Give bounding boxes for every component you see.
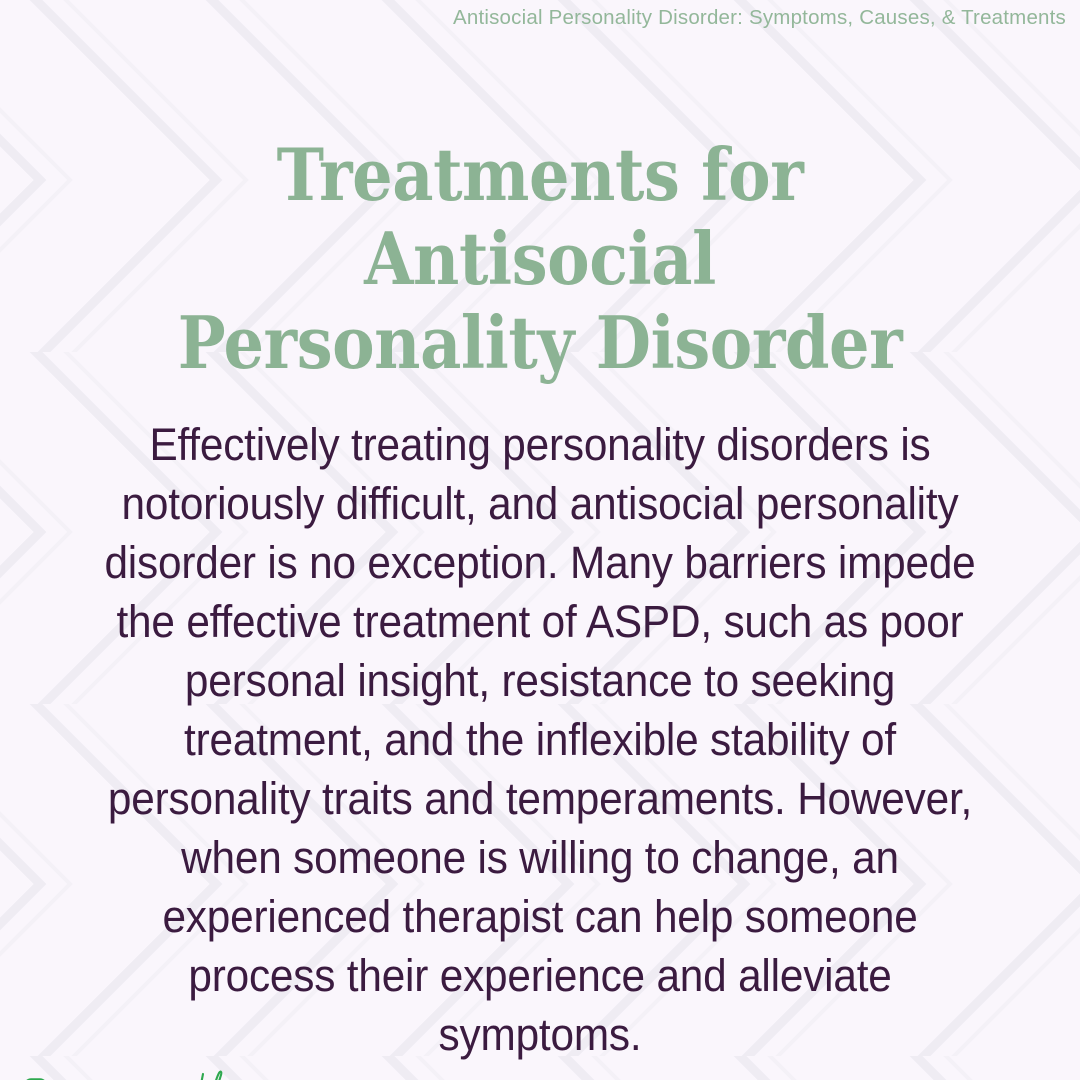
header-bar: Antisocial Personality Disorder: Symptom… (0, 0, 1080, 30)
page-title: Treatments for Antisocial Personality Di… (159, 133, 920, 385)
logo-script-therapy (191, 1064, 339, 1080)
poster-card: Antisocial Personality Disorder: Symptom… (0, 0, 1080, 1080)
footer-bar: CHOOSING (0, 1064, 1080, 1080)
choosing-therapy-logo[interactable]: CHOOSING (22, 1064, 339, 1080)
main-content: Treatments for Antisocial Personality Di… (0, 30, 1080, 1064)
article-breadcrumb-title: Antisocial Personality Disorder: Symptom… (453, 6, 1066, 30)
lotus-leaf-icon (22, 1077, 49, 1080)
body-paragraph: Effectively treating personality disorde… (97, 415, 982, 1064)
